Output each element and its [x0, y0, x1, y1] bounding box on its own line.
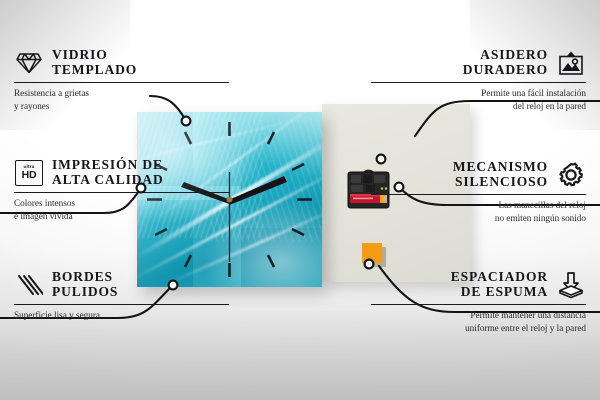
feature-description: Colores intensos e imagen vívida: [14, 197, 229, 223]
feature-description: Las manecillas del reloj no emiten ningú…: [371, 199, 586, 225]
feature-description: Resistencia a grietas y rayones: [14, 87, 229, 113]
diamond-icon: [14, 48, 44, 78]
feature-rule: [14, 82, 229, 83]
feature-title-line2: ALTA CALIDAD: [52, 173, 164, 188]
feature-description: Permite una fácil instalación del reloj …: [371, 87, 586, 113]
foam-spacer-arrow-icon: [556, 270, 586, 300]
gear-icon: [556, 160, 586, 190]
feature-title-line2: DE ESPUMA: [451, 285, 548, 300]
hd-icon-large-label: HD: [22, 170, 37, 181]
feature-rule: [14, 192, 229, 193]
feature-title-line2: TEMPLADO: [52, 63, 137, 78]
feature-impresion-alta-calidad: ultra HD IMPRESIÓN DE ALTA CALIDAD Color…: [14, 158, 229, 224]
feature-title-line2: SILENCIOSO: [453, 175, 548, 190]
feature-title: MECANISMO SILENCIOSO: [453, 160, 548, 189]
feature-title: BORDES PULIDOS: [52, 270, 118, 299]
feature-vidrio-templado: VIDRIO TEMPLADO Resistencia a grietas y …: [14, 48, 229, 114]
feature-title: VIDRIO TEMPLADO: [52, 48, 137, 77]
feature-title: IMPRESIÓN DE ALTA CALIDAD: [52, 158, 164, 187]
infographic-canvas: VIDRIO TEMPLADO Resistencia a grietas y …: [0, 0, 600, 400]
feature-title-line1: BORDES: [52, 270, 118, 285]
feature-rule: [371, 304, 586, 305]
feature-title-line1: MECANISMO: [453, 160, 548, 175]
ultra-hd-icon: ultra HD: [14, 158, 44, 188]
feature-title: ESPACIADOR DE ESPUMA: [451, 270, 548, 299]
feature-title: ASIDERO DURADERO: [463, 48, 548, 77]
feature-title-line1: IMPRESIÓN DE: [52, 158, 164, 173]
feature-title-line2: PULIDOS: [52, 285, 118, 300]
feature-rule: [14, 304, 229, 305]
feature-bordes-pulidos: BORDES PULIDOS Superficie lisa y segura: [14, 270, 229, 322]
hanging-frame-icon: [556, 48, 586, 78]
feature-title-line2: DURADERO: [463, 63, 548, 78]
feature-description: Permite mantener una distancia uniforme …: [371, 309, 586, 335]
feature-rule: [371, 82, 586, 83]
feature-title-line1: ASIDERO: [463, 48, 548, 63]
polished-edges-icon: [14, 270, 44, 300]
feature-title-line1: VIDRIO: [52, 48, 137, 63]
foam-spacer-part: [362, 243, 382, 263]
feature-asidero-duradero: ASIDERO DURADERO Permite una fácil insta…: [371, 48, 586, 114]
feature-mecanismo-silencioso: MECANISMO SILENCIOSO Las manecillas del …: [371, 160, 586, 226]
feature-rule: [371, 194, 586, 195]
feature-espaciador-de-espuma: ESPACIADOR DE ESPUMA Permite mantener un…: [371, 270, 586, 336]
feature-description: Superficie lisa y segura: [14, 309, 229, 322]
feature-title-line1: ESPACIADOR: [451, 270, 548, 285]
